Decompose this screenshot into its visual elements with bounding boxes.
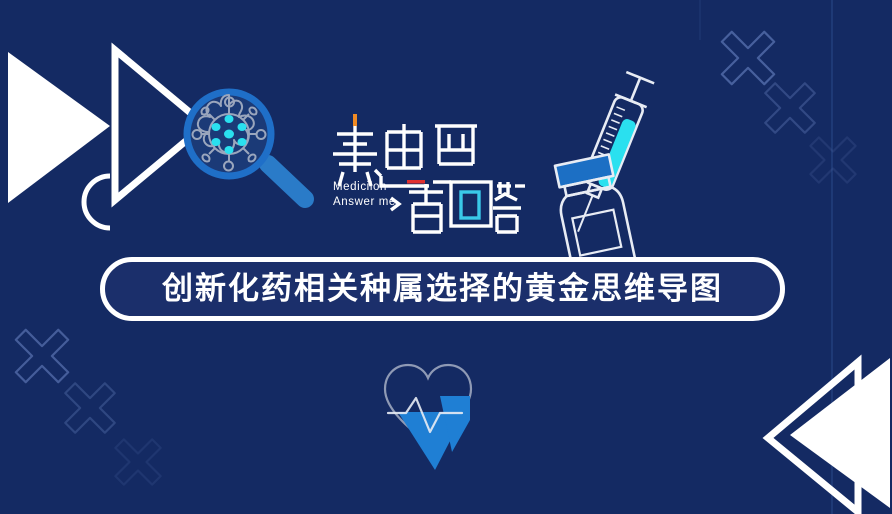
promo-banner: Medicilon Answer me 创新化药相关种属选择的黄金思维导图 (0, 0, 892, 514)
logo-latin-line2: Answer me (333, 195, 396, 210)
logo-graphic (325, 112, 525, 237)
medicilon-logo: Medicilon Answer me (325, 112, 525, 237)
logo-red-accent (407, 180, 425, 184)
logo-cyan-square (461, 192, 479, 218)
logo-orange-accent (353, 114, 357, 126)
heart-pulse-icon (385, 365, 471, 470)
logo-latin-line1: Medicilon (333, 180, 396, 195)
title-pill: 创新化药相关种属选择的黄金思维导图 (100, 257, 785, 321)
syringe-vial-icon (551, 71, 656, 286)
logo-latin-text: Medicilon Answer me (333, 180, 396, 210)
page-title: 创新化药相关种属选择的黄金思维导图 (162, 274, 723, 305)
magnifier-virus-icon (187, 92, 305, 199)
